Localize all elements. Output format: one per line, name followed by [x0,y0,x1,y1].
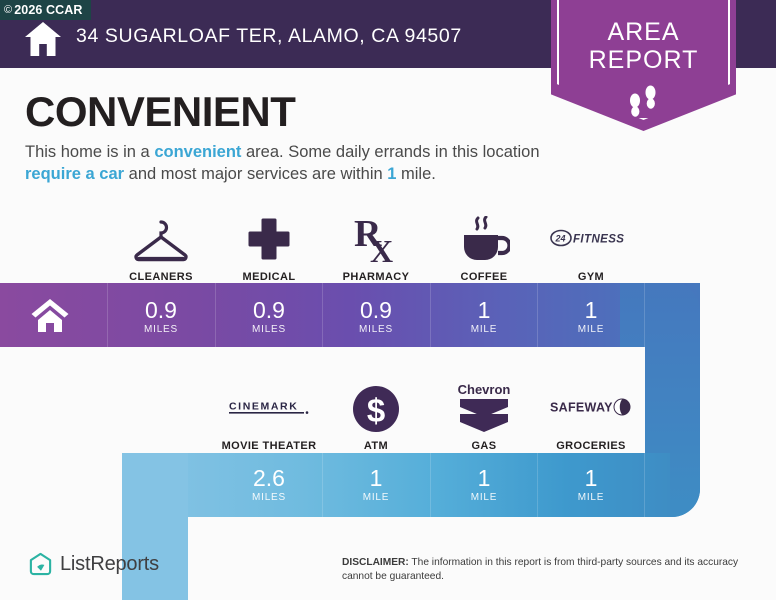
distance-unit: MILE [471,492,498,503]
amenity-atm[interactable]: $ ATM [322,367,430,452]
property-address: 34 SUGARLOAF TER, ALAMO, CA 94507 [76,25,462,48]
home-icon [30,298,70,332]
amenity-coffee[interactable]: COFFEE [430,198,538,283]
distance-coffee: 1 MILE [430,285,538,349]
amenity-gym[interactable]: 24 FITNESS GYM [537,198,645,283]
hanger-icon [107,212,215,264]
amenity-label: CLEANERS [129,271,193,283]
summary-highlight: require a car [25,165,124,183]
distance-unit: MILE [578,324,605,335]
svg-text:CINEMARK: CINEMARK [229,401,298,413]
amenity-label: MOVIE THEATER [222,440,317,452]
area-report-page: © 2026 CCAR 34 SUGARLOAF TER, ALAMO, CA … [0,0,776,600]
copyright-symbol: © [4,4,12,16]
dollar-circle-icon: $ [322,381,430,433]
svg-text:$: $ [367,392,385,429]
badge-label-line2: REPORT [551,46,736,74]
amenity-pharmacy[interactable]: R X PHARMACY [322,198,430,283]
distance-gas: 1 MILE [430,453,538,517]
svg-text:FITNESS: FITNESS [573,233,624,245]
distance-pharmacy: 0.9 MILES [322,285,430,349]
amenity-label: COFFEE [460,271,507,283]
distance-value: 1 [478,467,491,490]
page-title: CONVENIENT [25,88,295,136]
amenity-label: GROCERIES [556,440,626,452]
rx-icon: R X [322,212,430,264]
distance-value: 1 [585,299,598,322]
distance-movie-theater: 2.6 MILES [215,453,323,517]
amenity-groceries[interactable]: SAFEWAY GROCERIES [537,367,645,452]
distance-unit: MILE [363,492,390,503]
medical-cross-icon [215,212,323,264]
amenity-label: GYM [578,271,604,283]
copyright-text: 2026 CCAR [14,3,82,17]
distance-unit: MILE [578,492,605,503]
distance-groceries: 1 MILE [537,453,645,517]
amenity-movie-theater[interactable]: CINEMARK MOVIE THEATER [215,367,323,452]
svg-text:X: X [370,233,393,264]
distance-atm: 1 MILE [322,453,430,517]
distance-unit: MILES [252,324,286,335]
distance-value: 0.9 [360,299,392,322]
summary-text: and most major services are within [124,165,387,183]
home-icon [23,20,63,58]
safeway-logo: SAFEWAY [537,381,645,433]
distance-value: 0.9 [253,299,285,322]
amenity-cleaners[interactable]: CLEANERS [107,198,215,283]
amenity-medical[interactable]: MEDICAL [215,198,323,283]
brand-name: ListReports [60,553,159,576]
svg-text:24: 24 [555,234,566,244]
distance-unit: MILES [144,324,178,335]
badge-label-line1: AREA [551,18,736,46]
disclaimer: DISCLAIMER: The information in this repo… [342,556,762,583]
copyright-badge: © 2026 CCAR [0,0,91,20]
amenity-label: PHARMACY [343,271,410,283]
distance-value: 1 [478,299,491,322]
footprints-icon [624,82,664,122]
summary-paragraph: This home is in a convenient area. Some … [25,141,540,185]
distance-value: 1 [585,467,598,490]
brand-logo: ListReports [28,552,159,577]
disclaimer-prefix: DISCLAIMER: [342,557,409,568]
summary-text: mile. [396,165,435,183]
amenity-label: MEDICAL [243,271,296,283]
svg-text:Chevron: Chevron [458,382,511,397]
chevron-logo: Chevron [430,381,538,433]
24-fitness-logo: 24 FITNESS [537,212,645,264]
cinemark-logo: CINEMARK [215,381,323,433]
distance-unit: MILE [471,324,498,335]
badge-label: AREA REPORT [551,18,736,74]
amenity-icon-row-2: CINEMARK MOVIE THEATER $ ATM Chevron [215,367,647,452]
summary-text: This home is in a [25,143,154,161]
amenity-label: ATM [364,440,388,452]
distance-unit: MILES [252,492,286,503]
distance-medical: 0.9 MILES [215,285,323,349]
distance-unit: MILES [359,324,393,335]
area-report-badge: AREA REPORT [551,0,736,131]
summary-highlight: convenient [154,143,241,161]
distance-value: 2.6 [253,467,285,490]
distance-gym: 1 MILE [537,285,645,349]
distance-value: 0.9 [145,299,177,322]
amenity-icon-row-1: CLEANERS MEDICAL R X PHARMACY [107,198,647,283]
distance-value: 1 [370,467,383,490]
amenity-label: GAS [471,440,496,452]
coffee-cup-icon [430,212,538,264]
summary-text: area. Some daily errands in this locatio… [241,143,539,161]
listreports-logo [28,552,53,577]
amenity-gas[interactable]: Chevron GAS [430,367,538,452]
svg-text:SAFEWAY: SAFEWAY [550,401,613,415]
distance-cleaners: 0.9 MILES [107,285,215,349]
